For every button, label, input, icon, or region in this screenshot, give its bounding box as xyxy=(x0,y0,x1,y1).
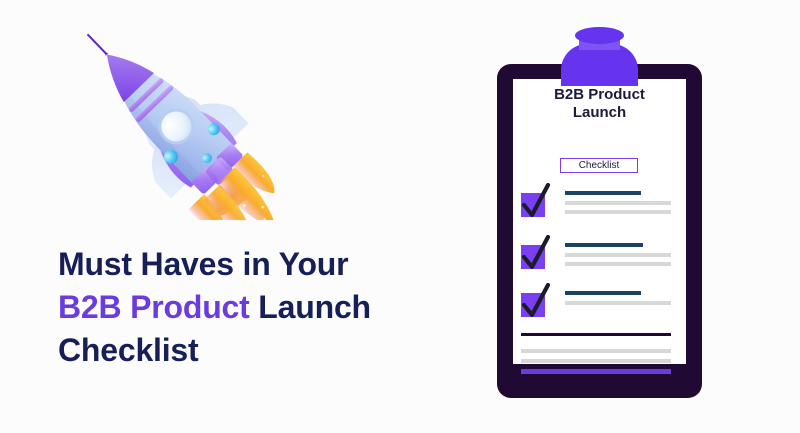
footer-line-accent xyxy=(521,369,671,374)
checklist-text-lines-1 xyxy=(565,191,671,219)
headline-line-2: B2B Product Launch xyxy=(58,286,458,329)
headline-line-1: Must Haves in Your xyxy=(58,243,458,286)
poster-canvas: Must Haves in Your B2B Product Launch Ch… xyxy=(0,0,800,433)
checklist-text-lines-3 xyxy=(565,291,671,310)
checklist-rows xyxy=(497,24,702,398)
headline-accent: B2B Product xyxy=(58,289,250,325)
line-body xyxy=(565,262,671,266)
line-body xyxy=(565,210,671,214)
line-heading xyxy=(565,291,641,295)
headline-line-2-rest: Launch xyxy=(250,289,371,325)
page-title: Must Haves in Your B2B Product Launch Ch… xyxy=(58,243,458,371)
line-body xyxy=(565,301,671,305)
footer-line-gray xyxy=(521,349,671,353)
line-body xyxy=(565,253,671,257)
line-body xyxy=(565,201,671,205)
rocket-illustration xyxy=(35,25,315,220)
footer-line-gray xyxy=(521,359,671,363)
headline-line-3: Checklist xyxy=(58,329,458,372)
clipboard-illustration: B2B Product Launch Checklist xyxy=(497,24,702,398)
checklist-row-3[interactable] xyxy=(497,285,702,333)
check-icon-1 xyxy=(519,183,553,223)
divider-rule xyxy=(521,333,671,336)
line-heading xyxy=(565,191,641,195)
checklist-text-lines-2 xyxy=(565,243,671,271)
check-icon-2 xyxy=(519,235,553,275)
checklist-row-2[interactable] xyxy=(497,237,702,285)
checklist-row-1[interactable] xyxy=(497,185,702,233)
footer-lines xyxy=(521,349,671,374)
line-heading xyxy=(565,243,643,247)
check-icon-3 xyxy=(519,283,553,323)
